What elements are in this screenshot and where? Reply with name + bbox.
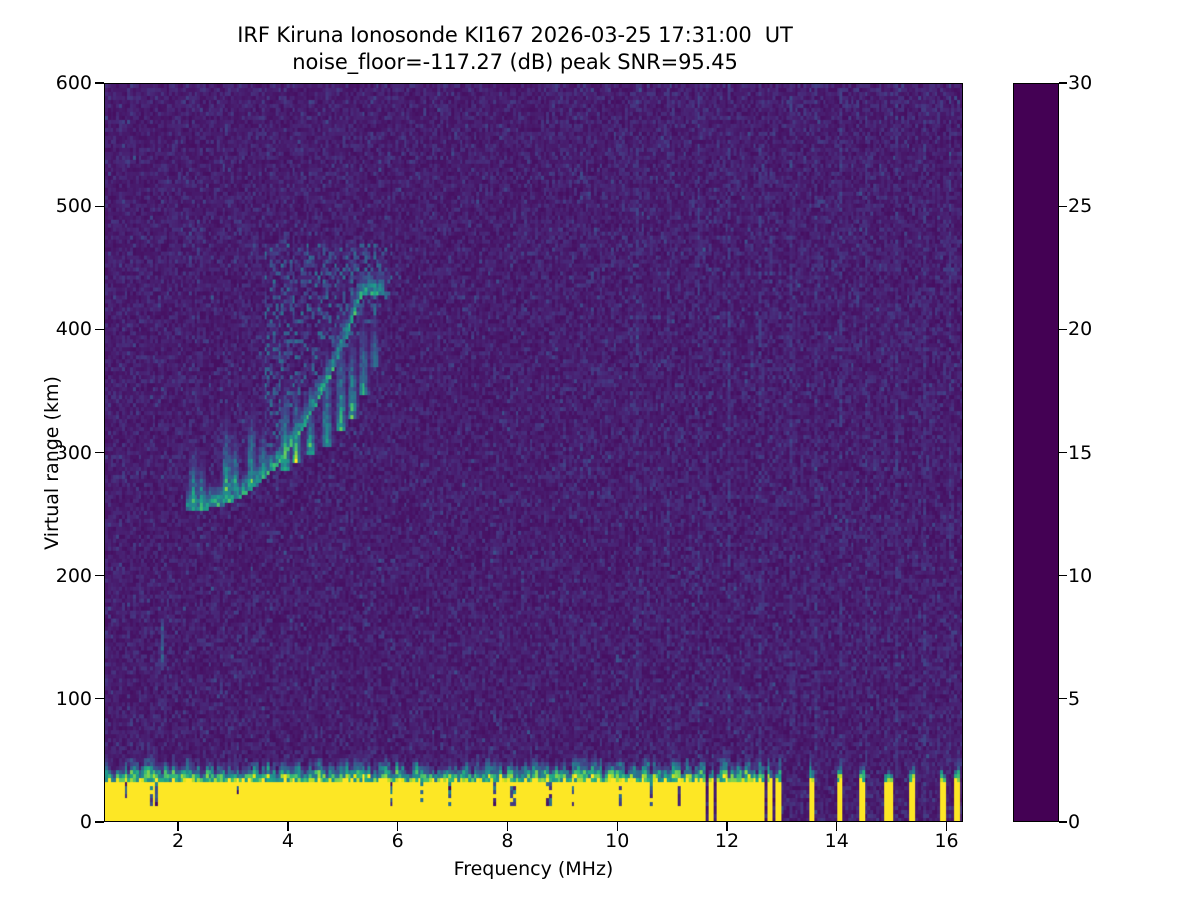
chart-title: IRF Kiruna Ionosonde KI167 2026-03-25 17… (0, 22, 1030, 77)
colorbar-tick-mark (1059, 452, 1067, 453)
x-tick-mark (836, 822, 837, 831)
x-tick-label: 2 (172, 830, 184, 852)
x-tick-mark (397, 822, 398, 831)
y-tick-label: 400 (56, 318, 92, 340)
title-line-2: noise_floor=-117.27 (dB) peak SNR=95.45 (0, 49, 1030, 76)
ionogram-heatmap (105, 84, 962, 821)
x-tick-mark (946, 822, 947, 831)
y-tick-label: 500 (56, 195, 92, 217)
title-line-1: IRF Kiruna Ionosonde KI167 2026-03-25 17… (0, 22, 1030, 49)
y-tick-mark (95, 329, 104, 330)
colorbar (1013, 83, 1059, 822)
colorbar-tick-label: 20 (1068, 318, 1092, 340)
x-tick-label: 8 (501, 830, 513, 852)
x-tick-label: 4 (282, 830, 294, 852)
colorbar-tick-label: 0 (1068, 811, 1080, 833)
x-axis-label: Frequency (MHz) (104, 858, 963, 880)
colorbar-tick-mark (1059, 82, 1067, 83)
colorbar-tick-mark (1059, 575, 1067, 576)
x-tick-mark (507, 822, 508, 831)
y-tick-mark (95, 452, 104, 453)
colorbar-tick-label: 10 (1068, 565, 1092, 587)
colorbar-tick-mark (1059, 329, 1067, 330)
colorbar-tick-label: 15 (1068, 442, 1092, 464)
x-tick-label: 6 (392, 830, 404, 852)
y-tick-label: 100 (56, 688, 92, 710)
x-tick-label: 16 (934, 830, 958, 852)
colorbar-tick-label: 25 (1068, 195, 1092, 217)
x-tick-mark (177, 822, 178, 831)
y-tick-label: 0 (80, 811, 92, 833)
ionogram-figure: IRF Kiruna Ionosonde KI167 2026-03-25 17… (0, 0, 1200, 900)
x-tick-label: 12 (715, 830, 739, 852)
y-tick-mark (95, 821, 104, 822)
colorbar-tick-label: 30 (1068, 72, 1092, 94)
y-tick-label: 200 (56, 565, 92, 587)
y-tick-mark (95, 575, 104, 576)
plot-area (104, 83, 963, 822)
x-tick-mark (617, 822, 618, 831)
x-tick-label: 10 (605, 830, 629, 852)
y-tick-mark (95, 698, 104, 699)
y-tick-mark (95, 206, 104, 207)
y-tick-label: 300 (56, 442, 92, 464)
y-tick-mark (95, 82, 104, 83)
colorbar-tick-label: 5 (1068, 688, 1080, 710)
x-tick-label: 14 (825, 830, 849, 852)
x-tick-mark (287, 822, 288, 831)
y-tick-label: 600 (56, 72, 92, 94)
x-tick-mark (726, 822, 727, 831)
colorbar-tick-mark (1059, 821, 1067, 822)
colorbar-gradient (1014, 84, 1058, 821)
colorbar-tick-mark (1059, 206, 1067, 207)
colorbar-tick-mark (1059, 698, 1067, 699)
